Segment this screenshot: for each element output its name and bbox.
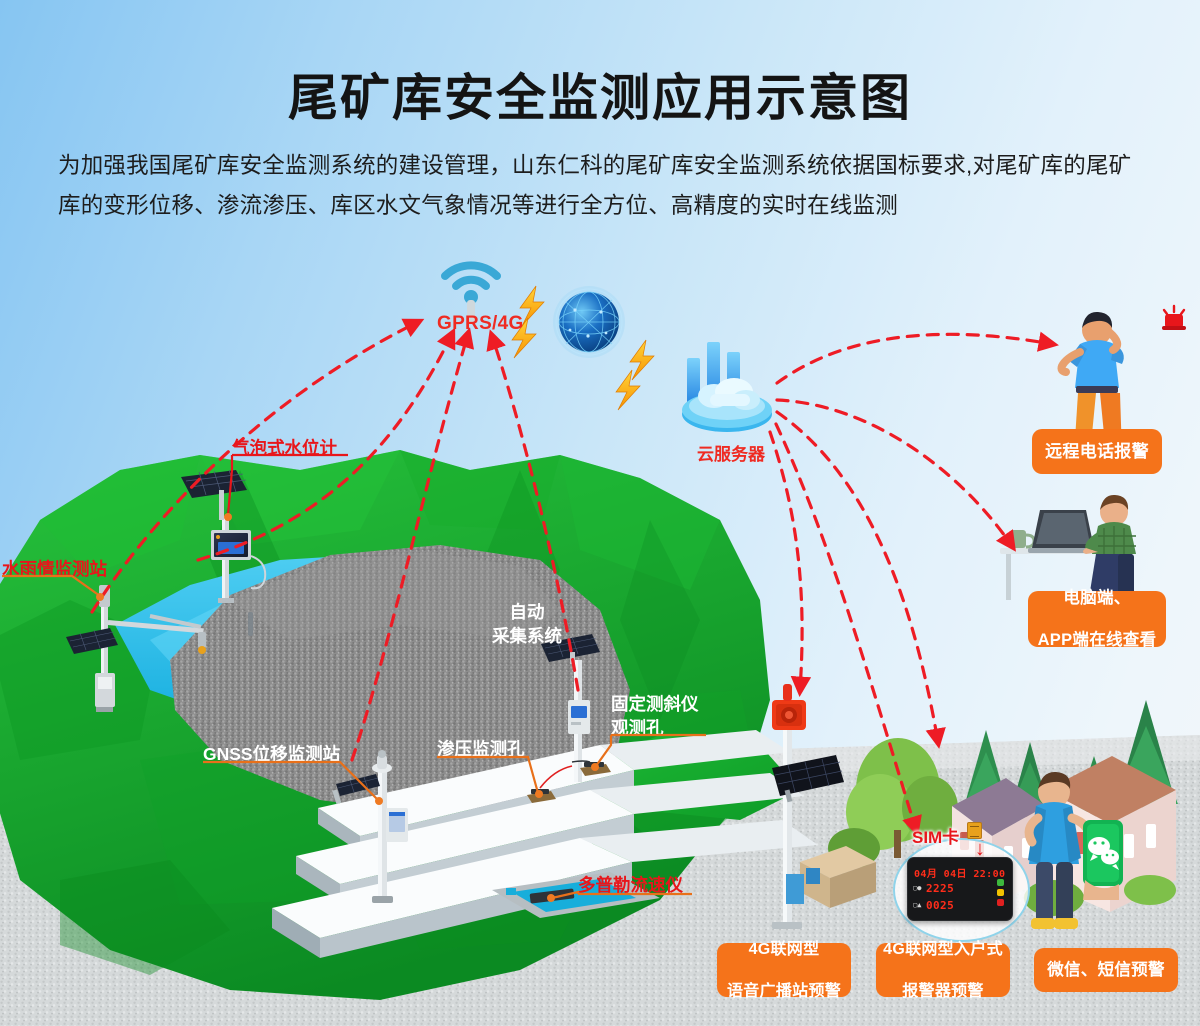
led-status-lights (997, 879, 1006, 909)
inclinometer-label-line2: 观测孔 (611, 718, 664, 738)
inclinometer-label-line1: 固定测斜仪 (611, 694, 699, 714)
auto-collect-label-line1: 自动 (510, 602, 545, 622)
output-label-voice-broadcast-line1: 4G联网型 (727, 939, 841, 960)
output-label-pc-app-view-line1: 电脑端、 (1038, 588, 1157, 609)
inclinometer-label: 固定测斜仪 观测孔 (611, 692, 699, 740)
sim-card-label: SIM卡 (912, 823, 959, 848)
infographic-canvas: 尾矿库安全监测应用示意图 为加强我国尾矿库安全监测系统的建设管理，山东仁科的尾矿… (0, 0, 1200, 1026)
seepage-hole-label: 渗压监测孔 (437, 736, 525, 761)
cloud-server-label: 云服务器 (697, 440, 765, 465)
led-alarm-panel: 04月 04日 22:00 ▢● 2225 ▢▲ 0025 (907, 857, 1013, 921)
alarm-siren-icon (1162, 306, 1186, 330)
bubble-gauge-label: 气泡式水位计 (232, 435, 337, 460)
led-icon-rain: ▢▲ (913, 901, 921, 909)
gprs-4g-label: GPRS/4G (437, 313, 524, 335)
output-label-household-alarm-line1: 4G联网型入户式 (883, 939, 1003, 960)
output-label-wechat-sms-text: 微信、短信预警 (1047, 960, 1165, 981)
output-label-pc-app-view[interactable]: 电脑端、 APP端在线查看 (1028, 591, 1166, 647)
doppler-label: 多普勒流速仪 (578, 872, 683, 897)
output-label-voice-broadcast-line2: 语音广播站预警 (727, 981, 841, 1002)
output-label-wechat-sms[interactable]: 微信、短信预警 (1034, 948, 1178, 992)
output-label-household-alarm-line2: 报警器预警 (883, 981, 1003, 1002)
sim-chip-icon (967, 822, 982, 839)
led-date: 04月 04日 (914, 869, 967, 880)
output-label-voice-broadcast[interactable]: 4G联网型 语音广播站预警 (717, 943, 851, 997)
output-label-household-alarm[interactable]: 4G联网型入户式 报警器预警 (876, 943, 1010, 997)
output-label-pc-app-view-line2: APP端在线查看 (1038, 630, 1157, 651)
led-value-bottom: 0025 (926, 899, 954, 912)
output-label-remote-phone-alarm[interactable]: 远程电话报警 (1032, 429, 1162, 474)
led-datetime: 04月 04日 22:00 (914, 865, 1005, 880)
globe-network-icon (553, 286, 625, 358)
gnss-station-label: GNSS位移监测站 (203, 741, 340, 766)
auto-collect-label-line2: 采集系统 (492, 626, 562, 646)
sim-insert-arrow-icon: ↓ (975, 839, 985, 859)
cloud-server-icon (682, 342, 772, 432)
rain-station-label: 水雨情监测站 (2, 556, 107, 581)
led-icon-water: ▢● (913, 884, 921, 892)
output-label-remote-phone-alarm-text: 远程电话报警 (1045, 441, 1149, 462)
auto-collect-label: 自动 采集系统 (492, 600, 562, 648)
led-value-top: 2225 (926, 882, 954, 895)
